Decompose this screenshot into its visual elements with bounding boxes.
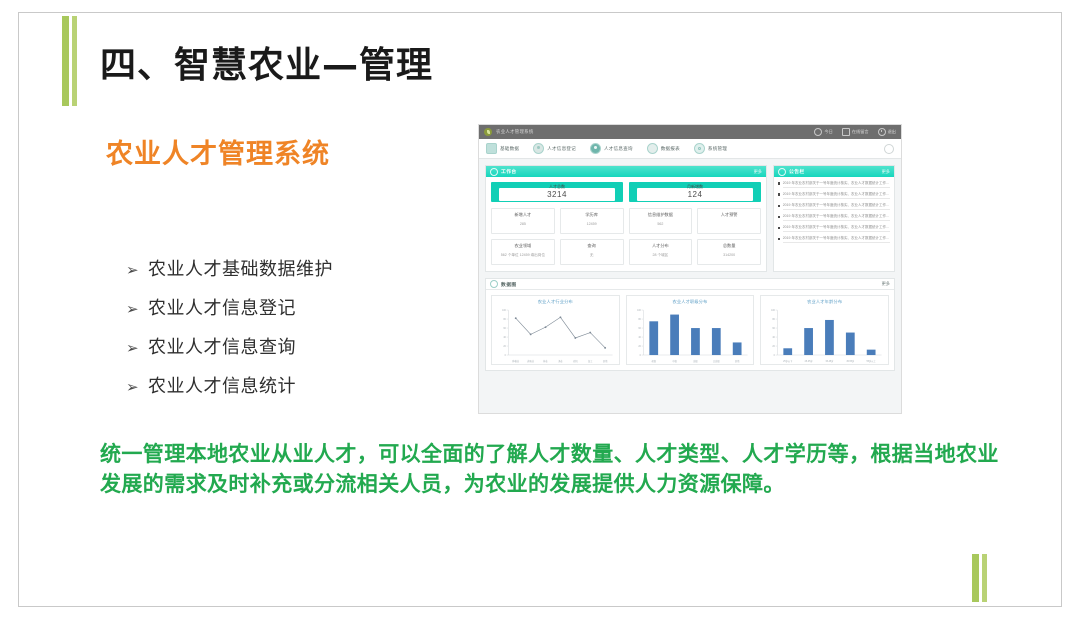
bulletin-item-text: 2019 年农业农村部关于一号年度统计核实、农业人才数据统计工作... [783,203,890,210]
svg-text:100: 100 [502,310,506,312]
app-titlebar: 农业人才管理系统 今日 在线留言 退出 [479,125,901,139]
svg-text:80: 80 [638,319,641,321]
charts-panel-header: 数据图 更多 [486,279,894,290]
worktop-panel-title: 工作台 [501,168,517,175]
settings-icon [694,143,705,154]
decor-stripes-bottom-right [972,554,987,602]
leaf-logo-icon [484,128,492,136]
tile-value: 285 [520,222,526,227]
tile-value: 12459 [587,222,597,227]
charts-row: 农业人才行业分布 020406080100种植业养殖业林业渔业农机加工其他 农业… [486,290,894,370]
chart-title: 农业人才行业分布 [538,299,573,305]
decor-stripe [72,16,77,106]
nav-label: 数据报表 [661,146,680,152]
charts-more-link[interactable]: 更多 [882,281,890,287]
bulletin-item-text: 2019 年农业农村部关于一号年度统计核实、农业人才数据统计工作... [783,181,890,188]
svg-text:60: 60 [638,328,641,330]
list-item[interactable]: 2019 年农业农村部关于一号年度统计核实、农业人才数据统计工作... [778,181,890,188]
list-item[interactable]: 2019 年农业农村部关于一号年度统计核实、农业人才数据统计工作... [778,225,890,232]
decor-stripes-top-left [62,16,77,106]
decor-stripe [972,554,979,602]
svg-text:加工: 加工 [588,359,593,363]
bulletin-item-text: 2019 年农业农村部关于一号年度统计核实、农业人才数据统计工作... [783,236,890,243]
nav-item-report[interactable]: 数据报表 [647,143,680,154]
section-subtitle: 农业人才管理系统 [106,132,330,171]
svg-text:0: 0 [774,355,776,357]
user-add-icon [533,143,544,154]
tile-label: 人才分布 [652,243,669,249]
titlebar-message-label: 在线留言 [852,129,869,135]
bullet-marker-icon: ➢ [126,378,148,396]
nav-item-talent-query[interactable]: 人才信息查询 [590,143,633,154]
bullet-square-icon [778,216,780,218]
svg-text:80: 80 [503,319,506,321]
power-icon [878,128,886,136]
svg-text:其他: 其他 [735,359,740,363]
tile-label: 总数量 [723,243,736,249]
bulletin-more-link[interactable]: 更多 [882,169,890,175]
nav-label: 人才信息登记 [547,146,576,152]
bullet-marker-icon: ➢ [126,300,148,318]
worktop-tile[interactable]: 学历库 12459 [560,208,624,234]
list-item[interactable]: 2019 年农业农村部关于一号年度统计核实、农业人才数据统计工作... [778,192,890,199]
help-icon[interactable] [884,144,894,154]
svg-text:100: 100 [771,310,775,312]
tile-value: 562 [657,222,663,227]
chart-plot-bar-age: 02040608010025岁以下25-35岁35-45岁45-55岁55岁以上 [763,307,886,364]
svg-text:40: 40 [503,337,506,339]
worktop-content: 人才总数 3214 月新增数 124 [486,177,766,271]
chart-rank-distribution: 农业人才职级分布 020406080100初级中级高级正高级其他 [626,295,755,365]
stat-value: 3214 [547,190,567,199]
nav-label: 基础数据 [500,146,519,152]
svg-text:正高级: 正高级 [713,359,720,363]
svg-text:0: 0 [505,355,507,357]
list-item[interactable]: 2019 年农业农村部关于一号年度统计核实、农业人才数据统计工作... [778,214,890,221]
worktop-tile[interactable]: 查询 无 [560,239,624,265]
nav-label: 人才信息查询 [604,146,633,152]
app-screenshot: 农业人才管理系统 今日 在线留言 退出 基础数据 [478,124,902,414]
list-item-label: 农业人才基础数据维护 [148,255,333,281]
bullet-marker-icon: ➢ [126,261,148,279]
tile-label: 查询 [587,243,595,249]
bullet-marker-icon: ➢ [126,339,148,357]
svg-text:80: 80 [773,319,776,321]
svg-text:35-45岁: 35-45岁 [826,359,834,363]
stat-label: 人才总数 [491,184,623,190]
worktop-panel-header: 工作台 更多 [486,166,766,177]
svg-text:20: 20 [773,346,776,348]
svg-text:25岁以下: 25岁以下 [783,359,793,363]
worktop-tile[interactable]: 农业领域 562 个单位 12459 填出岗位 [491,239,555,265]
app-top-row: 工作台 更多 人才总数 3214 月新增数 [485,165,895,272]
stat-label: 月新增数 [629,184,761,190]
nav-item-system[interactable]: 系统管理 [694,143,727,154]
user-search-icon [590,143,601,154]
bulletin-item-text: 2019 年农业农村部关于一号年度统计核实、农业人才数据统计工作... [783,214,890,221]
tile-label: 信息维护数据 [648,212,673,218]
svg-text:100: 100 [637,310,641,312]
chart-icon[interactable] [490,280,498,288]
charts-panel-title: 数据图 [501,281,517,288]
titlebar-message-button[interactable]: 在线留言 [842,128,869,136]
bullet-square-icon [778,205,780,207]
titlebar-today-label: 今日 [824,129,832,135]
nav-label: 系统管理 [708,146,727,152]
svg-text:渔业: 渔业 [558,359,563,363]
clock-icon [814,128,822,136]
bullet-square-icon [778,193,780,195]
tile-value: 28 个城区 [652,253,668,258]
titlebar-logout-button[interactable]: 退出 [878,128,896,136]
svg-text:高级: 高级 [693,359,698,363]
svg-text:60: 60 [503,328,506,330]
database-icon [486,143,497,154]
tile-value: 314200 [723,253,735,258]
list-item-label: 农业人才信息查询 [148,333,296,359]
bullet-list: ➢ 农业人才基础数据维护 ➢ 农业人才信息登记 ➢ 农业人才信息查询 ➢ 农业人… [126,255,333,411]
tile-label: 学历库 [585,212,598,218]
bulletin-board-panel: 公告栏 更多 2019 年农业农村部关于一号年度统计核实、农业人才数据统计工作.… [773,165,895,272]
bell-icon[interactable] [778,168,786,176]
charts-panel: 数据图 更多 农业人才行业分布 020406080100种植业养殖业林业渔业农机… [485,278,895,371]
stat-total-talent: 人才总数 3214 [491,182,623,202]
svg-text:0: 0 [639,355,641,357]
svg-text:农机: 农机 [573,359,578,363]
worktop-tile[interactable]: 人才分布 28 个城区 [629,239,693,265]
summary-paragraph: 统一管理本地农业从业人才，可以全面的了解人才数量、人才类型、人才学历等，根据当地… [100,440,1000,500]
slide: 四、智慧农业—管理 农业人才管理系统 ➢ 农业人才基础数据维护 ➢ 农业人才信息… [0,0,1080,619]
svg-text:45-55岁: 45-55岁 [847,359,855,363]
worktop-tile[interactable]: 总数量 314200 [697,239,761,265]
bulletin-panel-title: 公告栏 [789,168,805,175]
svg-text:25-35岁: 25-35岁 [805,359,813,363]
list-item: ➢ 农业人才信息查询 [126,333,333,359]
nav-item-talent-register[interactable]: 人才信息登记 [533,143,576,154]
decor-stripe [62,16,69,106]
bulletin-item-text: 2019 年农业农村部关于一号年度统计核实、农业人才数据统计工作... [783,225,890,232]
svg-text:20: 20 [503,346,506,348]
stat-row: 人才总数 3214 月新增数 124 [491,182,761,202]
minus-icon[interactable] [490,168,498,176]
bullet-square-icon [778,238,780,240]
titlebar-logout-label: 退出 [888,129,896,135]
worktop-tile-grid: 新增人才 285 学历库 12459 信息维护数据 562 [491,208,761,265]
app-body: 工作台 更多 人才总数 3214 月新增数 [479,159,901,377]
chart-plot-bar-rank: 020406080100初级中级高级正高级其他 [629,307,752,364]
tile-label: 农业领域 [514,243,531,249]
svg-text:40: 40 [773,337,776,339]
titlebar-actions: 今日 在线留言 退出 [814,128,896,136]
list-item[interactable]: 2019 年农业农村部关于一号年度统计核实、农业人才数据统计工作... [778,236,890,243]
chart-title: 农业人才年龄分布 [807,299,842,305]
worktop-more-link[interactable]: 更多 [754,169,762,175]
list-item: ➢ 农业人才基础数据维护 [126,255,333,281]
app-nav: 基础数据 人才信息登记 人才信息查询 数据报表 系统管理 [479,139,901,159]
list-item-label: 农业人才信息统计 [148,372,296,398]
svg-text:中级: 中级 [672,359,677,363]
titlebar-today-button[interactable]: 今日 [814,128,832,136]
svg-text:林业: 林业 [543,359,548,363]
chart-age-distribution: 农业人才年龄分布 02040608010025岁以下25-35岁35-45岁45… [760,295,889,365]
page-title: 四、智慧农业—管理 [100,36,433,88]
list-item-label: 农业人才信息登记 [148,294,296,320]
bulletin-panel-header: 公告栏 更多 [774,166,894,177]
worktop-panel: 工作台 更多 人才总数 3214 月新增数 [485,165,767,272]
bulletin-item-text: 2019 年农业农村部关于一号年度统计核实、农业人才数据统计工作... [783,192,890,199]
list-item[interactable]: 2019 年农业农村部关于一号年度统计核实、农业人才数据统计工作... [778,203,890,210]
decor-stripe [982,554,987,602]
svg-text:55岁以上: 55岁以上 [867,359,877,363]
svg-text:种植业: 种植业 [512,359,519,363]
worktop-tile[interactable]: 信息维护数据 562 [629,208,693,234]
bulletin-list: 2019 年农业农村部关于一号年度统计核实、农业人才数据统计工作... 2019… [774,177,894,243]
stat-value: 124 [688,190,703,199]
svg-text:初级: 初级 [651,359,656,363]
nav-item-basic-data[interactable]: 基础数据 [486,143,519,154]
tile-label: 人才预警 [721,212,738,218]
list-item: ➢ 农业人才信息统计 [126,372,333,398]
chart-plot-line: 020406080100种植业养殖业林业渔业农机加工其他 [494,307,617,364]
svg-text:40: 40 [638,337,641,339]
svg-text:20: 20 [638,346,641,348]
document-icon [842,128,850,136]
report-icon [647,143,658,154]
worktop-tile[interactable]: 新增人才 285 [491,208,555,234]
bullet-square-icon [778,227,780,229]
svg-text:60: 60 [773,328,776,330]
chart-title: 农业人才职级分布 [672,299,707,305]
worktop-tile[interactable]: 人才预警 [697,208,761,234]
stat-monthly-new: 月新增数 124 [629,182,761,202]
list-item: ➢ 农业人才信息登记 [126,294,333,320]
tile-label: 新增人才 [514,212,531,218]
tile-value: 562 个单位 12459 填出岗位 [501,253,545,258]
svg-text:其他: 其他 [603,359,608,363]
bullet-square-icon [778,182,780,184]
svg-text:养殖业: 养殖业 [527,359,534,363]
chart-industry-distribution: 农业人才行业分布 020406080100种植业养殖业林业渔业农机加工其他 [491,295,620,365]
app-title: 农业人才管理系统 [496,129,534,135]
tile-value: 无 [590,253,594,258]
